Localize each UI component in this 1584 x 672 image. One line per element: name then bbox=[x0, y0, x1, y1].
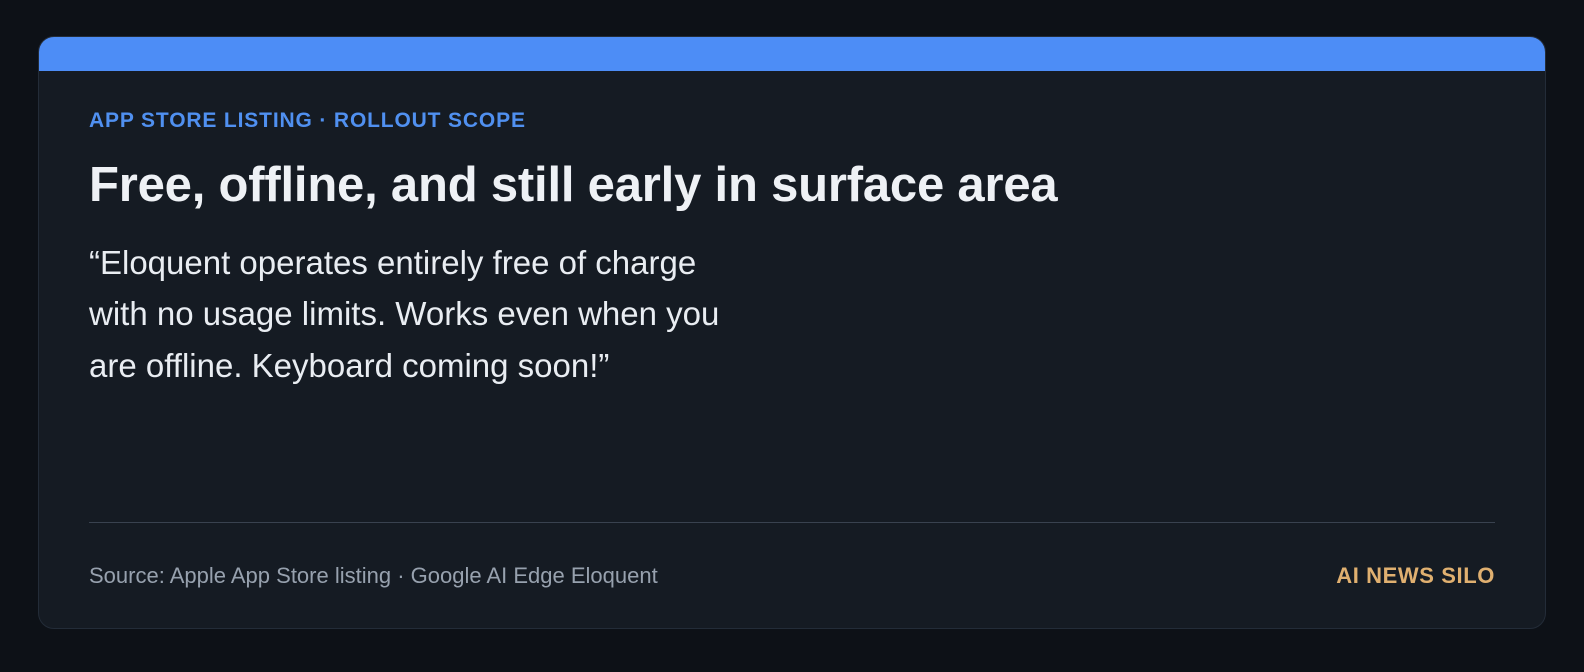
card-footer: Source: Apple App Store listing · Google… bbox=[89, 522, 1495, 628]
quote-card: APP STORE LISTING · ROLLOUT SCOPE Free, … bbox=[38, 36, 1546, 629]
brand-wordmark: AI NEWS SILO bbox=[1336, 565, 1495, 587]
kicker-label: APP STORE LISTING · ROLLOUT SCOPE bbox=[89, 71, 1495, 131]
headline: Free, offline, and still early in surfac… bbox=[89, 131, 1495, 212]
quote-card-stage: APP STORE LISTING · ROLLOUT SCOPE Free, … bbox=[0, 0, 1584, 672]
quote-text: “Eloquent operates entirely free of char… bbox=[89, 212, 1495, 391]
accent-bar bbox=[39, 37, 1545, 71]
source-attribution: Source: Apple App Store listing · Google… bbox=[89, 565, 658, 587]
